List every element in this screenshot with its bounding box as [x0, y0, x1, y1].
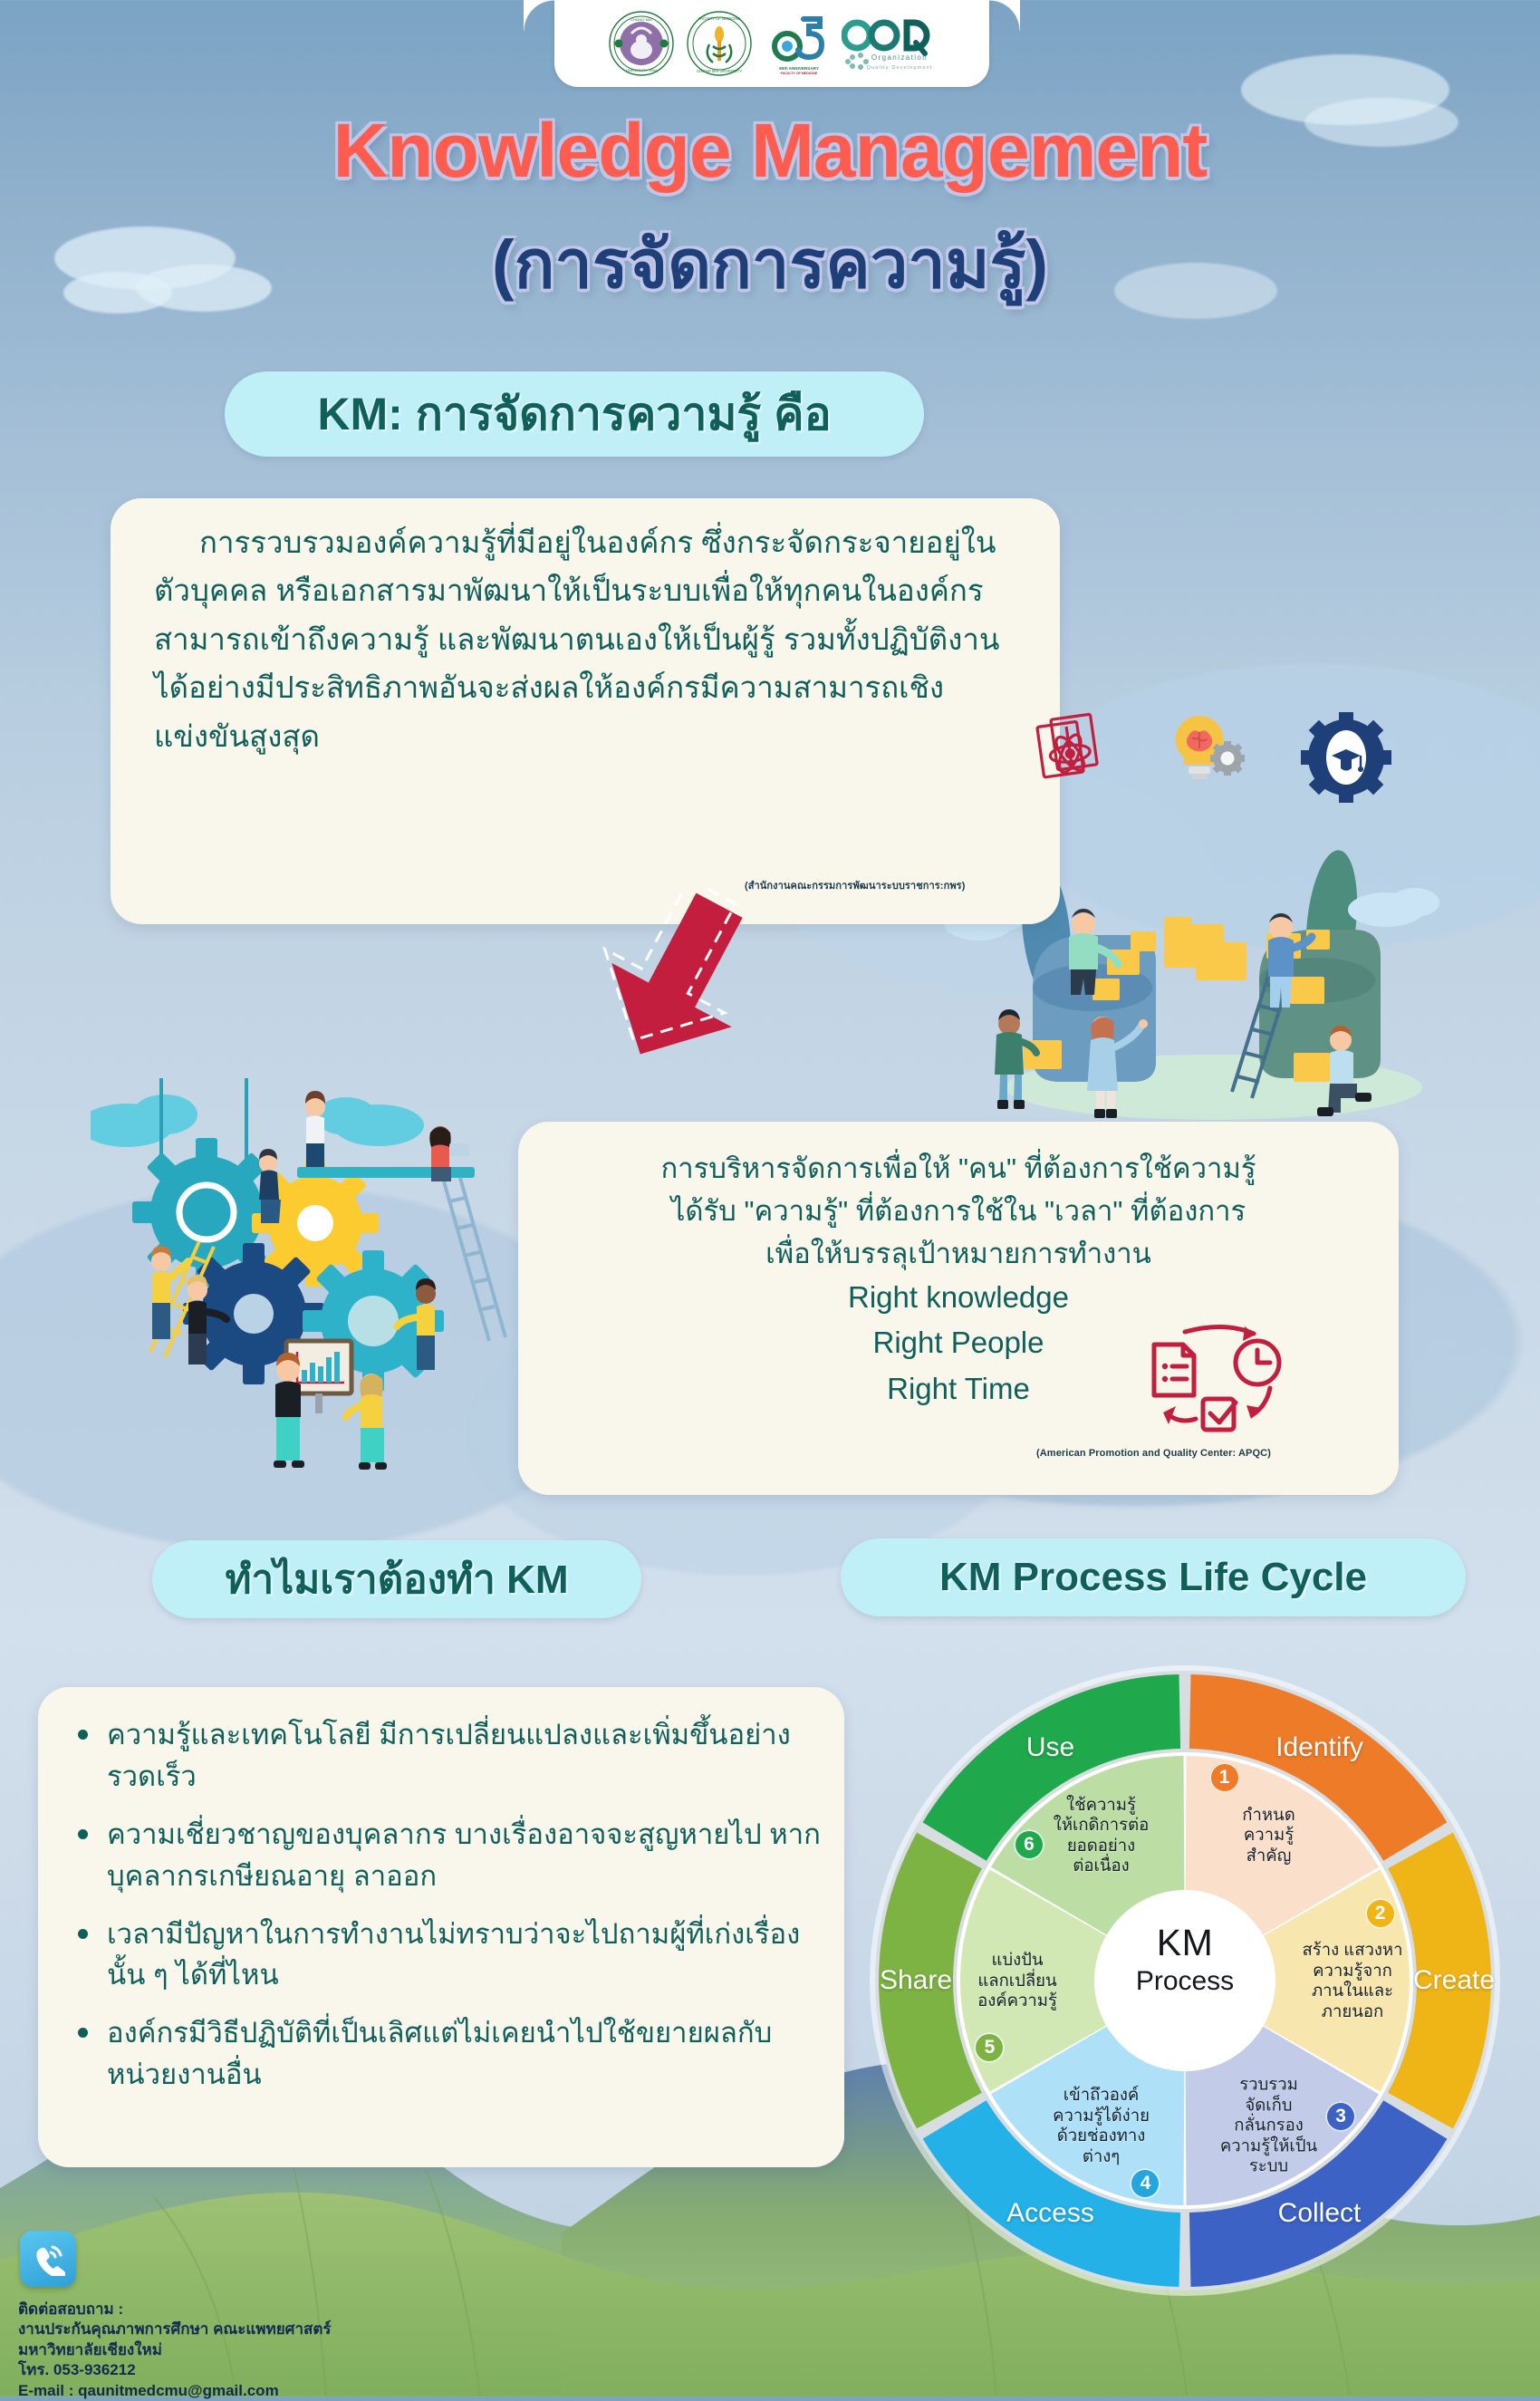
list-item: ความเชี่ยวชาญของบุคลากร บางเรื่องอาจจะสู…	[69, 1814, 821, 1897]
page-title-english: Knowledge Management	[0, 107, 1540, 195]
wheel-outer-label-identify: Identify	[1275, 1732, 1363, 1763]
section-header-why-km: ทำไมเราต้องทำ KM	[152, 1540, 641, 1618]
wheel-segment-text-1: กำหนดความรู้สำคัญ	[1242, 1805, 1295, 1866]
wheel-outer-label-access: Access	[1006, 2198, 1094, 2229]
wheel-outer-label-collect: Collect	[1278, 2198, 1362, 2229]
faculty-of-medicine-logo: FACULTY OF MEDICINE CHIANG MAI UNIVERSIT…	[686, 10, 753, 77]
cmu-seal-logo: CHIANG MAI UNIVERSITY 1964	[608, 10, 675, 77]
oqd-logo: Organization Quality Development	[842, 10, 936, 77]
person-figure	[305, 1091, 325, 1167]
wheel-segment-text-5: แบ่งปันแลกเปลี่ยนองค์ความรู้	[977, 1950, 1057, 2011]
lightbulb-brain-icon	[1176, 716, 1245, 779]
phone-icon	[20, 2231, 76, 2287]
svg-text:Organization: Organization	[871, 53, 928, 62]
red-down-arrow	[571, 888, 788, 1069]
wheel-step-number-5: 5	[974, 2032, 1005, 2063]
page-title-thai: (การจัดการความรู้)	[0, 210, 1540, 317]
hub-line-1: KM	[1090, 1922, 1280, 1964]
wheel-step-number-1: 1	[1209, 1762, 1240, 1793]
purpose-line-1: การบริหารจัดการเพื่อให้ "คน" ที่ต้องการใ…	[551, 1147, 1366, 1190]
wheel-outer-label-create: Create	[1413, 1965, 1495, 1996]
svg-text:Quality Development: Quality Development	[867, 65, 933, 71]
wheel-step-number-2: 2	[1365, 1898, 1396, 1929]
list-item: องค์กรมีวิธีปฏิบัติที่เป็นเลิศแต่ไม่เคยน…	[69, 2012, 821, 2096]
person-figure	[259, 1149, 281, 1223]
65th-anniversary-logo: 65th ANNIVERSARY FACULTY OF MEDICINE	[764, 10, 831, 77]
hub-line-2: Process	[1090, 1966, 1280, 1997]
list-item: ความรู้และเทคโนโลยี มีการเปลี่ยนแปลงและเ…	[69, 1714, 821, 1798]
wheel-outer-label-share: Share	[880, 1965, 952, 1996]
km-definition-text: การรวบรวมองค์ความรู้ที่มีอยู่ในองค์กร ซึ…	[154, 518, 1006, 760]
gear-graduation-icon	[1301, 712, 1391, 803]
km-purpose-credit: (American Promotion and Quality Center: …	[1036, 1448, 1271, 1459]
footer-line-3: มหาวิทยาลัยเชียงใหม่	[18, 2340, 332, 2360]
wheel-segment-text-4: เข้าถึวองค์ความรู้ได้ง่ายด้วยช่องทางต่าง…	[1053, 2085, 1150, 2166]
footer-line-4: โทร. 053-936212	[18, 2360, 332, 2380]
footer-line-5: E-mail : qaunitmedcmu@gmail.com	[18, 2381, 332, 2401]
purpose-line-3: เพื่อให้บรรลุเป้าหมายการทำงาน	[551, 1232, 1366, 1275]
wheel-segment-text-6: ใช้ความรู้ให้เกดิการต่อยอดอย่างต่อเนื่อง	[1054, 1795, 1149, 1876]
km-definition-card: การรวบรวมองค์ความรู้ที่มีอยู่ในองค์กร ซึ…	[111, 498, 1060, 924]
svg-text:CHIANG MAI UNIVERSITY: CHIANG MAI UNIVERSITY	[697, 69, 742, 73]
svg-text:FACULTY OF MEDICINE: FACULTY OF MEDICINE	[781, 72, 818, 75]
wheel-step-number-4: 4	[1130, 2168, 1160, 2199]
section-header-km-definition: KM: การจัดการความรู้ คือ	[225, 371, 924, 457]
km-process-life-cycle-wheel: KM Process Identifyกำหนดความรู้สำคัญ1Cre…	[868, 1663, 1502, 2298]
purpose-line-right-knowledge: Right knowledge	[551, 1275, 1366, 1320]
wheel-hub-title: KM Process	[1090, 1922, 1280, 1997]
svg-text:CHIANG MAI: CHIANG MAI	[630, 17, 652, 22]
purpose-line-2: ได้รับ "ความรู้" ที่ต้องการใช้ใน "เวลา" …	[551, 1190, 1366, 1232]
wheel-outer-label-use: Use	[1026, 1732, 1074, 1763]
why-km-card: ความรู้และเทคโนโลยี มีการเปลี่ยนแปลงและเ…	[38, 1687, 844, 2167]
person-figure	[274, 1353, 304, 1468]
footer-line-1: ติดต่อสอบถาม :	[18, 2300, 332, 2319]
svg-text:65th ANNIVERSARY: 65th ANNIVERSARY	[779, 66, 819, 71]
section-header-km-process-life-cycle: KM Process Life Cycle	[841, 1538, 1466, 1616]
logo-bar: CHIANG MAI UNIVERSITY 1964 FACULTY OF ME…	[554, 0, 989, 87]
svg-text:UNIVERSITY 1964: UNIVERSITY 1964	[626, 68, 658, 72]
km-purpose-card: การบริหารจัดการเพื่อให้ "คน" ที่ต้องการใ…	[518, 1122, 1399, 1495]
list-item: เวลามีปัญหาในการทำงานไม่ทราบว่าจะไปถามผู…	[69, 1914, 821, 1997]
book-atom-icon	[1036, 714, 1098, 778]
why-km-bullet-list: ความรู้และเทคโนโลยี มีการเปลี่ยนแปลงและเ…	[69, 1714, 821, 2112]
footer-line-2: งานประกันคุณภาพการศึกษา คณะแพทยศาสตร์	[18, 2319, 332, 2339]
knowledge-icons-group	[1033, 707, 1413, 834]
footer-contact-info: ติดต่อสอบถาม : งานประกันคุณภาพการศึกษา ค…	[18, 2300, 332, 2401]
wheel-segment-text-2: สร้าง แสวงหาความรู้จากภานในและภายนอก	[1302, 1940, 1402, 2021]
wheel-step-number-3: 3	[1325, 2101, 1356, 2132]
teamwork-gears-illustration	[91, 1069, 544, 1477]
wheel-step-number-6: 6	[1014, 1829, 1044, 1860]
svg-text:FACULTY OF MEDICINE: FACULTY OF MEDICINE	[698, 16, 740, 21]
wheel-segment-text-3: รวบรวมจัดเก็บกลั่นกรองความรู้ให้เป็นระบบ	[1220, 2075, 1317, 2177]
document-clock-cycle-icon	[1141, 1319, 1314, 1437]
